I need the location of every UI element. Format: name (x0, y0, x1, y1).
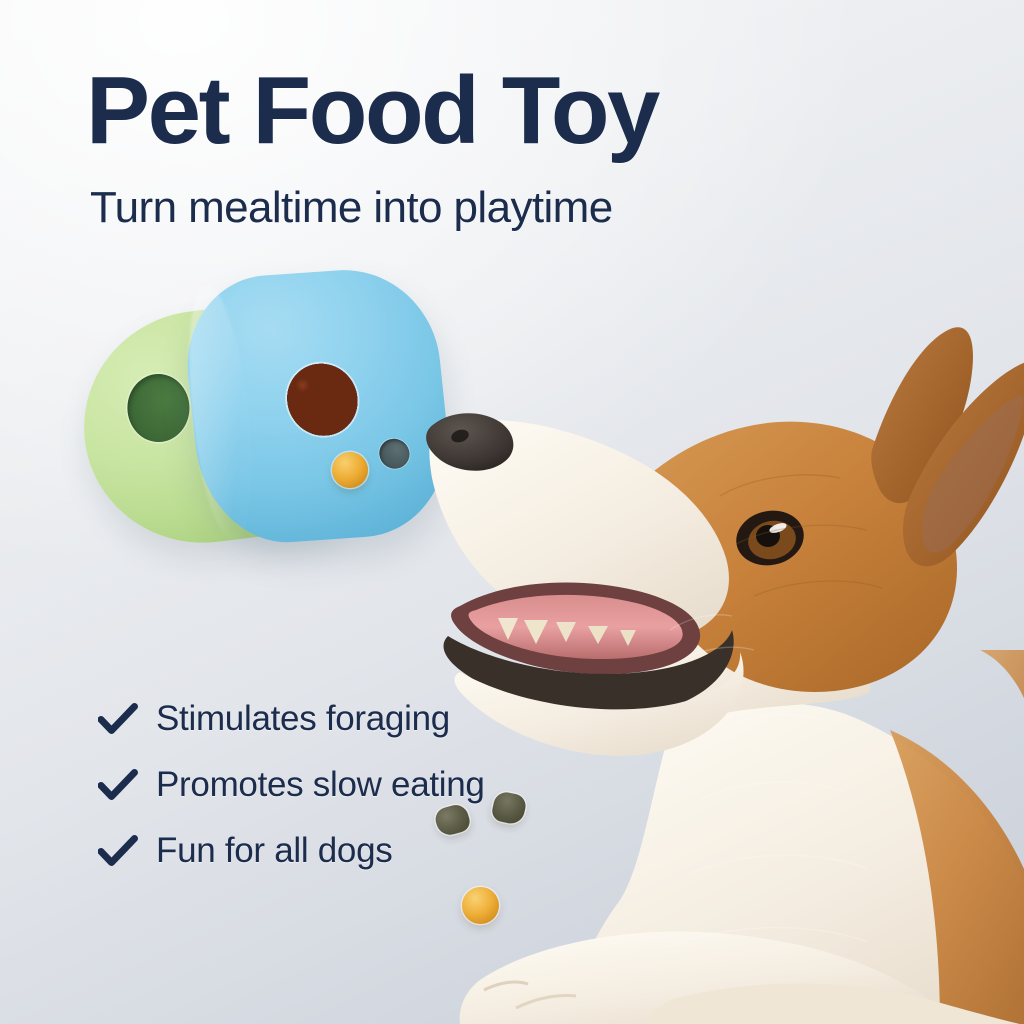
benefits-list: Stimulates foraging Promotes slow eating… (98, 698, 485, 872)
check-icon (98, 768, 138, 802)
toy-blue-cap-small-hole (378, 438, 411, 470)
toy-blue-cap-hole (284, 361, 361, 437)
benefit-label: Promotes slow eating (156, 765, 485, 805)
list-item: Stimulates foraging (98, 698, 485, 740)
check-icon (98, 834, 138, 868)
dog-photo (420, 300, 1024, 1024)
benefit-label: Stimulates foraging (156, 699, 450, 739)
check-icon (98, 702, 138, 736)
list-item: Promotes slow eating (98, 764, 485, 806)
kibble-inside-toy (284, 361, 361, 437)
dog-rear-patch (980, 650, 1024, 770)
toy-blue-cap (178, 264, 458, 548)
page-title: Pet Food Toy (86, 62, 658, 160)
kibble-orange-ball-upper (332, 452, 368, 488)
toy-green-body-hole (127, 373, 190, 442)
benefit-label: Fun for all dogs (156, 831, 392, 871)
list-item: Fun for all dogs (98, 830, 485, 872)
poster-canvas: Pet Food Toy Turn mealtime into playtime… (0, 0, 1024, 1024)
page-subtitle: Turn mealtime into playtime (90, 183, 613, 233)
